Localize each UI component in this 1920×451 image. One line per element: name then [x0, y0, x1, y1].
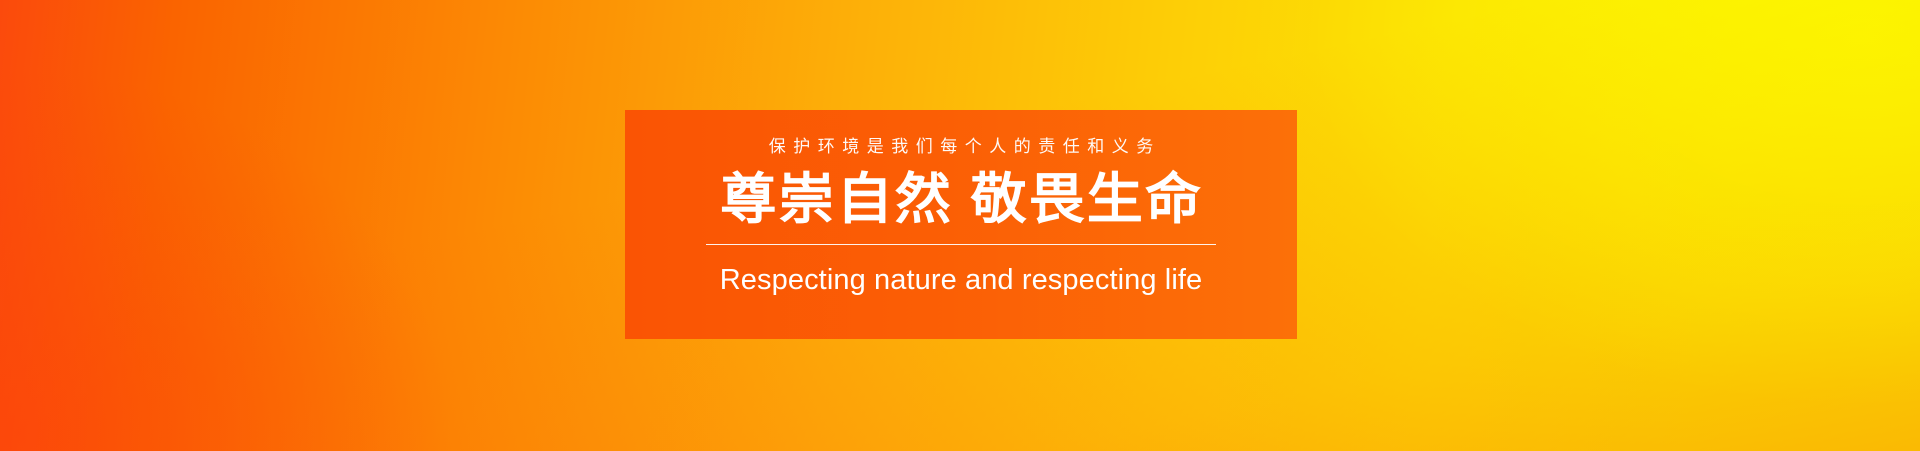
- headline-divider: [706, 244, 1216, 245]
- banner-subtitle-english: Respecting nature and respecting life: [720, 266, 1203, 295]
- slogan-panel: 保护环境是我们每个人的责任和义务 尊崇自然 敬畏生命 Respecting na…: [625, 110, 1297, 339]
- environment-slogan-banner: 保护环境是我们每个人的责任和义务 尊崇自然 敬畏生命 Respecting na…: [0, 0, 1920, 451]
- banner-tagline: 保护环境是我们每个人的责任和义务: [761, 138, 1161, 155]
- banner-headline: 尊崇自然 敬畏生命: [719, 172, 1204, 227]
